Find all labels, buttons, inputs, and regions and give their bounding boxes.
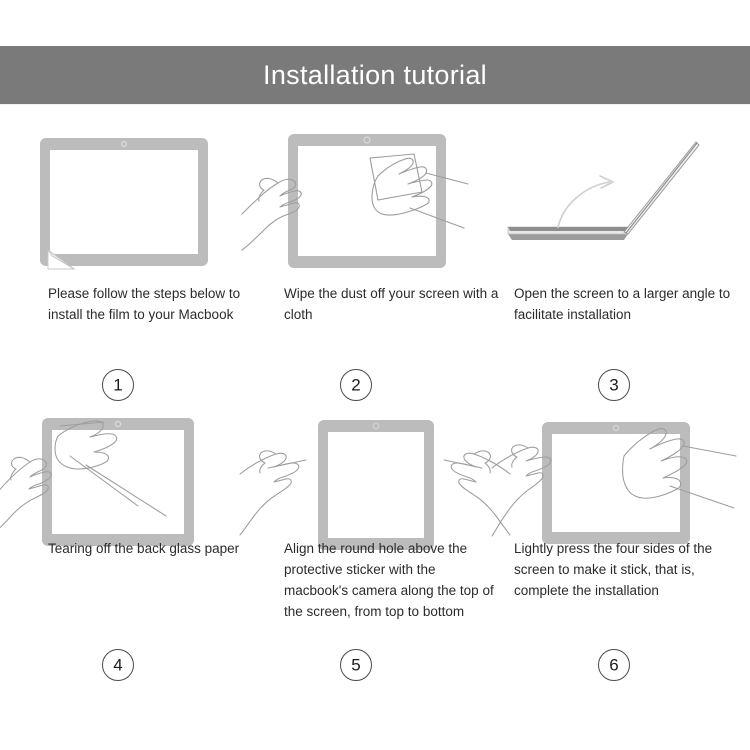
step-3-caption: Open the screen to a larger angle to fac…: [500, 283, 750, 325]
step-5-number: 5: [351, 656, 360, 673]
step-3-badge: 3: [598, 369, 630, 401]
step-4-caption: Tearing off the back glass paper: [0, 538, 248, 559]
page-title: Installation tutorial: [263, 62, 487, 89]
step-6-caption: Lightly press the four sides of the scre…: [500, 538, 750, 601]
step-2-illustration: [250, 128, 500, 278]
tutorial-step-5: Align the round hole above the protectiv…: [250, 410, 500, 700]
step-3-illustration: [500, 128, 750, 278]
screen-with-peeling-film-corner-icon: [0, 128, 250, 278]
step-2-caption: Wipe the dust off your screen with a clo…: [250, 283, 500, 325]
step-1-illustration: [0, 128, 250, 278]
step-2-number: 2: [351, 376, 360, 393]
tutorial-step-6: Lightly press the four sides of the scre…: [500, 410, 750, 700]
tutorial-step-2: Wipe the dust off your screen with a clo…: [250, 128, 500, 410]
step-5-badge: 5: [340, 649, 372, 681]
step-4-number: 4: [113, 656, 122, 673]
step-6-badge: 6: [598, 649, 630, 681]
tutorial-step-4: Tearing off the back glass paper 4: [0, 410, 250, 700]
step-2-badge: 2: [340, 369, 372, 401]
hand-wiping-screen-with-cloth-icon: [250, 128, 500, 278]
step-1-caption: Please follow the steps below to install…: [0, 283, 248, 325]
tutorial-steps-grid: Please follow the steps below to install…: [0, 128, 750, 728]
step-3-number: 3: [609, 376, 618, 393]
tutorial-step-1: Please follow the steps below to install…: [0, 128, 250, 410]
step-6-number: 6: [609, 656, 618, 673]
header-banner: Installation tutorial: [0, 46, 750, 104]
step-1-number: 1: [113, 376, 122, 393]
step-1-badge: 1: [102, 369, 134, 401]
tutorial-step-3: Open the screen to a larger angle to fac…: [500, 128, 750, 410]
step-5-caption: Align the round hole above the protectiv…: [250, 538, 500, 622]
step-4-badge: 4: [102, 649, 134, 681]
laptop-open-angle-arrow-icon: [500, 128, 750, 278]
